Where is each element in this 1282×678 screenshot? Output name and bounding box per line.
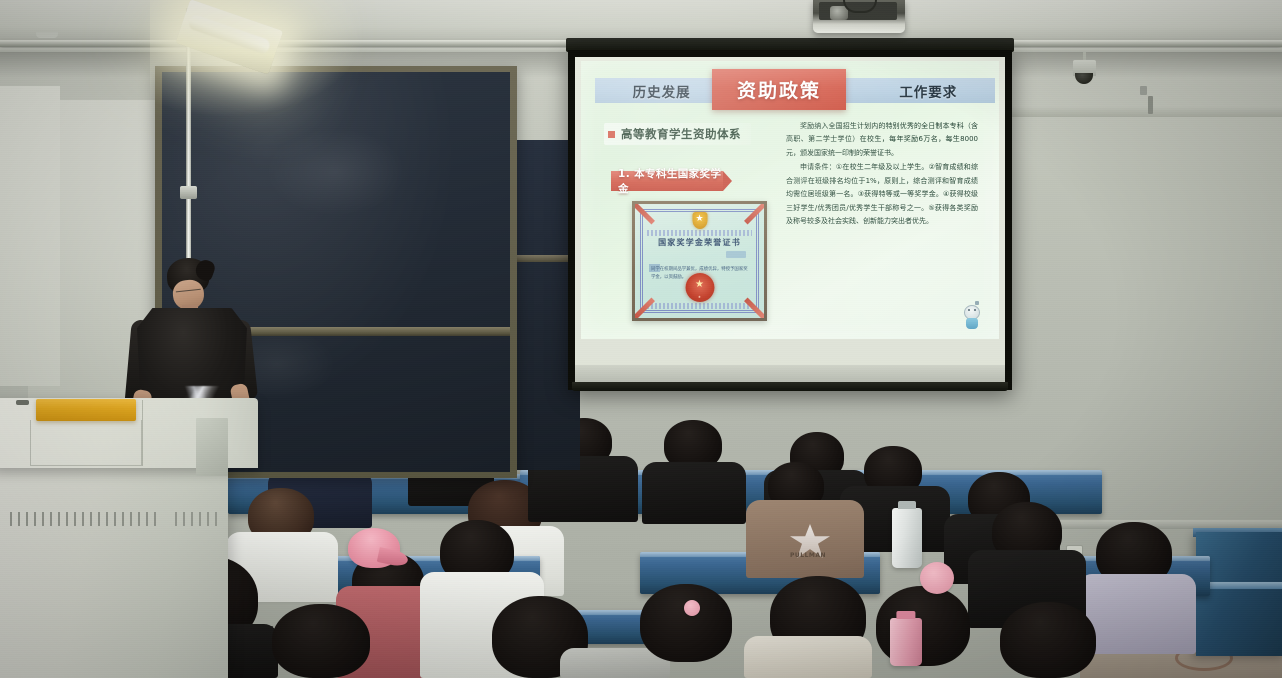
podium-vent-grille — [175, 512, 217, 526]
light-pole-bracket — [180, 186, 197, 199]
pink-hair-clip — [920, 562, 954, 594]
desk-right-shelf — [1198, 582, 1282, 589]
projector-icon — [813, 0, 905, 33]
slide-paragraph-2: 申请条件：①在校生二年级及以上学生。②智育成绩和综合测评在班级排名均位于1%，原… — [786, 161, 978, 228]
wall-fixture-icon — [1140, 86, 1147, 95]
certificate-number-box — [726, 251, 746, 258]
mascot-eye — [974, 309, 976, 311]
hoodie-text: PULLMAN — [790, 552, 826, 559]
mascot-eye — [968, 309, 970, 311]
podium-panel-seam — [30, 420, 142, 466]
tab-history[interactable]: 历史发展 — [595, 81, 728, 101]
slide-paragraph-1: 奖励纳入全国招生计划内的特别优秀的全日制本专科（含高职、第二学士学位）在校生，每… — [786, 120, 978, 160]
screen-bottom-bar — [572, 382, 1008, 391]
wall-bracket-icon — [1148, 96, 1153, 114]
section-heading-label: 高等教育学生资助体系 — [621, 126, 741, 142]
student-head — [1000, 602, 1096, 678]
chalk-smudge — [266, 128, 405, 216]
screen-surface: 历史发展 · 工作要求 资助政策 高等教育学生资助体系 1. 本专科生国家奖学金 — [575, 57, 1005, 383]
student-head — [272, 604, 370, 678]
wall-band — [1000, 106, 1282, 117]
tab-funding-policy-active[interactable]: 资助政策 — [712, 69, 846, 110]
presentation-slide: 历史发展 · 工作要求 资助政策 高等教育学生资助体系 1. 本专科生国家奖学金 — [581, 61, 999, 339]
lecture-hall-scene: 历史发展 · 工作要求 资助政策 高等教育学生资助体系 1. 本专科生国家奖学金 — [0, 0, 1282, 678]
mascot-antenna — [975, 301, 979, 305]
projection-screen: 历史发展 · 工作要求 资助政策 高等教育学生资助体系 1. 本专科生国家奖学金 — [568, 50, 1012, 390]
student-body — [744, 636, 872, 678]
tab-work-requirements[interactable]: 工作要求 — [862, 81, 995, 101]
bullet-square-icon — [608, 131, 615, 138]
seal-label: ★ — [685, 295, 714, 299]
bottle-cap — [896, 611, 915, 619]
mascot-body — [966, 318, 978, 329]
water-bottle-silver — [892, 508, 922, 568]
slide-body-text: 奖励纳入全国招生计划内的特别优秀的全日制本专科（含高职、第二学士学位）在校生，每… — [786, 120, 978, 230]
podium-vent-grille — [10, 512, 162, 526]
podium-panel-seam — [142, 400, 143, 466]
podium-wood-trim — [36, 399, 136, 421]
projector-mount — [36, 32, 58, 38]
certificate-ornament-top — [647, 230, 752, 236]
bottle-cap — [898, 501, 916, 509]
certificate-ornament-bottom — [647, 303, 752, 309]
podium-control-panel[interactable] — [196, 418, 228, 476]
certificate-title: 国家奖学金荣誉证书 — [635, 237, 764, 248]
certificate-face: 国家奖学金荣誉证书 同学在校期间品学兼优，成绩优异，特授予国家奖学金，以资鼓励。… — [635, 204, 764, 318]
water-bottle-pink — [890, 618, 922, 666]
pink-hair-clip — [684, 600, 700, 616]
screen-lower-margin — [575, 365, 1005, 383]
slide-section-heading: 高等教育学生资助体系 — [604, 123, 751, 145]
slide-item-ribbon: 1. 本专科生国家奖学金 — [611, 171, 723, 191]
robot-mascot-icon — [962, 301, 982, 331]
student-head — [640, 584, 732, 662]
podium-base — [0, 462, 228, 678]
certificate-image: 国家奖学金荣誉证书 同学在校期间品学兼优，成绩优异，特授予国家奖学金，以资鼓励。… — [632, 201, 767, 321]
pink-baseball-cap — [348, 528, 400, 568]
student-body — [642, 462, 746, 524]
wall-panel-far-left — [0, 86, 60, 386]
national-emblem-icon — [692, 212, 707, 229]
podium-knob-icon[interactable] — [16, 400, 29, 405]
official-seal-icon: ★ — [685, 273, 714, 302]
